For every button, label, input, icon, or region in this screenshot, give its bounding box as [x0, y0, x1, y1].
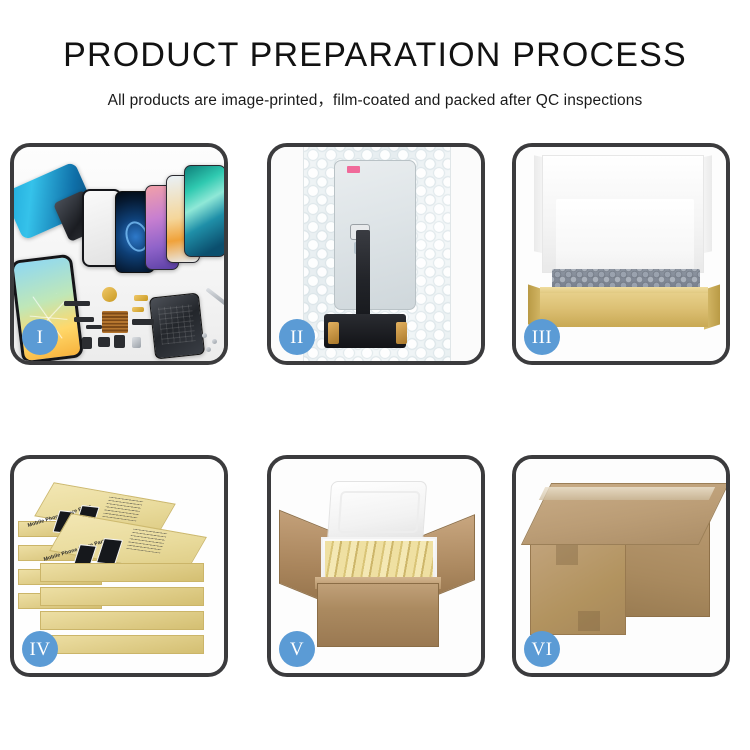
lcd-gold-contact-left — [328, 322, 339, 344]
badge-label: I — [37, 328, 44, 347]
badge-label: V — [290, 640, 304, 659]
part-speaker — [98, 337, 110, 347]
badge-label: IV — [29, 640, 50, 659]
badge-roman-1: I — [22, 319, 58, 355]
badge-label: II — [290, 328, 304, 347]
part-camera-ring — [102, 287, 117, 302]
product-preparation-infographic: PRODUCT PREPARATION PROCESS All products… — [0, 0, 750, 750]
part-cable-ribbon — [132, 319, 154, 325]
carton-body — [317, 583, 439, 647]
phone-screen-teal — [184, 165, 224, 257]
tool-tweezers — [206, 287, 224, 306]
foam-sheet — [556, 199, 694, 277]
stack-box-f-3 — [40, 611, 204, 630]
process-step-4: Mobile Phone Spare Parts Mobile Phone Sp… — [10, 455, 228, 677]
process-steps-grid: I II — [10, 143, 740, 680]
part-sim-tray — [82, 337, 92, 349]
carton-tab-lower — [578, 611, 600, 631]
part-flex-gold — [134, 295, 148, 301]
foam-box-lid — [327, 481, 427, 545]
box-front-kraft — [540, 293, 708, 327]
part-connector-2 — [86, 325, 102, 329]
part-flex-gold-2 — [132, 307, 144, 312]
packing-tape — [539, 487, 715, 500]
part-screw-tray — [102, 311, 128, 333]
pink-qc-sticker — [347, 166, 360, 173]
part-earpiece-mesh — [64, 301, 90, 306]
part-screw — [202, 333, 207, 338]
badge-roman-4: IV — [22, 631, 58, 667]
bubble-wrap-bag — [303, 147, 451, 361]
process-step-3: III — [512, 143, 730, 365]
stack-box-f-1 — [40, 563, 204, 582]
badge-roman-6: VI — [524, 631, 560, 667]
page-title: PRODUCT PREPARATION PROCESS — [0, 38, 750, 72]
badge-roman-2: II — [279, 319, 315, 355]
badge-label: VI — [531, 640, 552, 659]
stack-box-f-4 — [40, 635, 204, 654]
process-step-6: VI — [512, 455, 730, 677]
lcd-screen-assembly — [334, 160, 416, 310]
part-connector — [74, 317, 94, 322]
carton-tab-upper — [556, 545, 578, 565]
part-vibrator — [114, 335, 125, 348]
badge-roman-3: III — [524, 319, 560, 355]
part-bracket — [132, 337, 141, 348]
page-subtitle: All products are image-printed，film-coat… — [0, 88, 750, 110]
badge-label: III — [532, 328, 552, 347]
phone-back-housing — [149, 293, 205, 360]
lcd-flex-cable — [356, 230, 370, 326]
header: PRODUCT PREPARATION PROCESS All products… — [0, 0, 750, 110]
stack-box-f-2 — [40, 587, 204, 606]
badge-roman-5: V — [279, 631, 315, 667]
process-step-2: II — [267, 143, 485, 365]
process-step-5: V — [267, 455, 485, 677]
process-step-1: I — [10, 143, 228, 365]
lcd-gold-contact-right — [396, 322, 407, 344]
part-screw-2 — [212, 339, 217, 344]
part-screw-3 — [206, 347, 211, 352]
